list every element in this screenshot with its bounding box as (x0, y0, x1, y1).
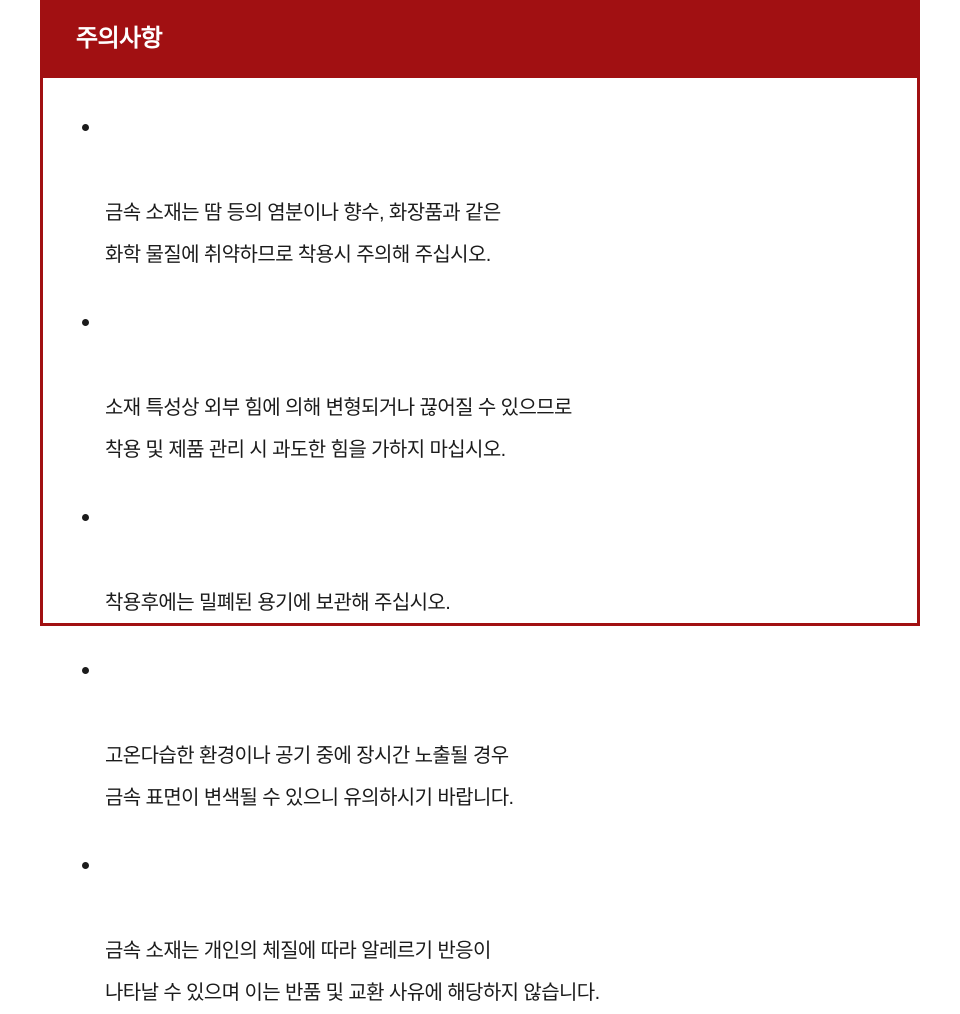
bullet-dot-icon (82, 514, 89, 521)
list-item-text: 소재 특성상 외부 힘에 의해 변형되거나 끊어질 수 있으므로 착용 및 제품… (105, 397, 572, 461)
caution-list: 금속 소재는 땀 등의 염분이나 향수, 화장품과 같은 화학 물질에 취약하므… (73, 108, 887, 1014)
list-item: 금속 소재는 땀 등의 염분이나 향수, 화장품과 같은 화학 물질에 취약하므… (73, 108, 887, 276)
page-title: 주의사항 (76, 27, 162, 51)
caution-panel: 주의사항 금속 소재는 땀 등의 염분이나 향수, 화장품과 같은 화학 물질에… (40, 0, 920, 626)
list-item: 소재 특성상 외부 힘에 의해 변형되거나 끊어질 수 있으므로 착용 및 제품… (73, 303, 887, 471)
bullet-dot-icon (82, 319, 89, 326)
list-item: 금속 소재는 개인의 체질에 따라 알레르기 반응이 나타날 수 있으며 이는 … (73, 846, 887, 1014)
list-item-text: 고온다습한 환경이나 공기 중에 장시간 노출될 경우 금속 표면이 변색될 수… (105, 745, 514, 809)
list-item-text: 금속 소재는 땀 등의 염분이나 향수, 화장품과 같은 화학 물질에 취약하므… (105, 202, 501, 266)
bullet-dot-icon (82, 862, 89, 869)
notice-page: 주의사항 금속 소재는 땀 등의 염분이나 향수, 화장품과 같은 화학 물질에… (0, 0, 960, 844)
list-item-text: 금속 소재는 개인의 체질에 따라 알레르기 반응이 나타날 수 있으며 이는 … (105, 940, 600, 1004)
caution-panel-header: 주의사항 (40, 0, 920, 78)
list-item-text: 착용후에는 밀폐된 용기에 보관해 주십시오. (105, 592, 450, 614)
caution-panel-body: 금속 소재는 땀 등의 염분이나 향수, 화장품과 같은 화학 물질에 취약하므… (40, 78, 920, 626)
bullet-dot-icon (82, 667, 89, 674)
list-item: 고온다습한 환경이나 공기 중에 장시간 노출될 경우 금속 표면이 변색될 수… (73, 651, 887, 819)
list-item: 착용후에는 밀폐된 용기에 보관해 주십시오. (73, 498, 887, 624)
bullet-dot-icon (82, 124, 89, 131)
